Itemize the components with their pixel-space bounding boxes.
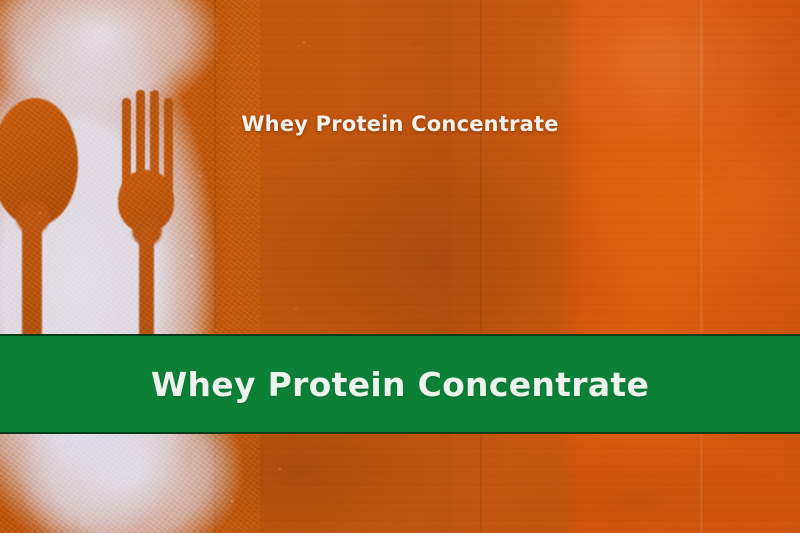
title-banner: Whey Protein Concentrate <box>0 334 800 434</box>
powder-speckle-scatter <box>0 0 800 533</box>
photo-overlay-title: Whey Protein Concentrate <box>0 112 800 136</box>
hero-image: Whey Protein Concentrate Whey Protein Co… <box>0 0 800 533</box>
banner-title-text: Whey Protein Concentrate <box>151 365 649 404</box>
background-photo <box>0 0 800 533</box>
